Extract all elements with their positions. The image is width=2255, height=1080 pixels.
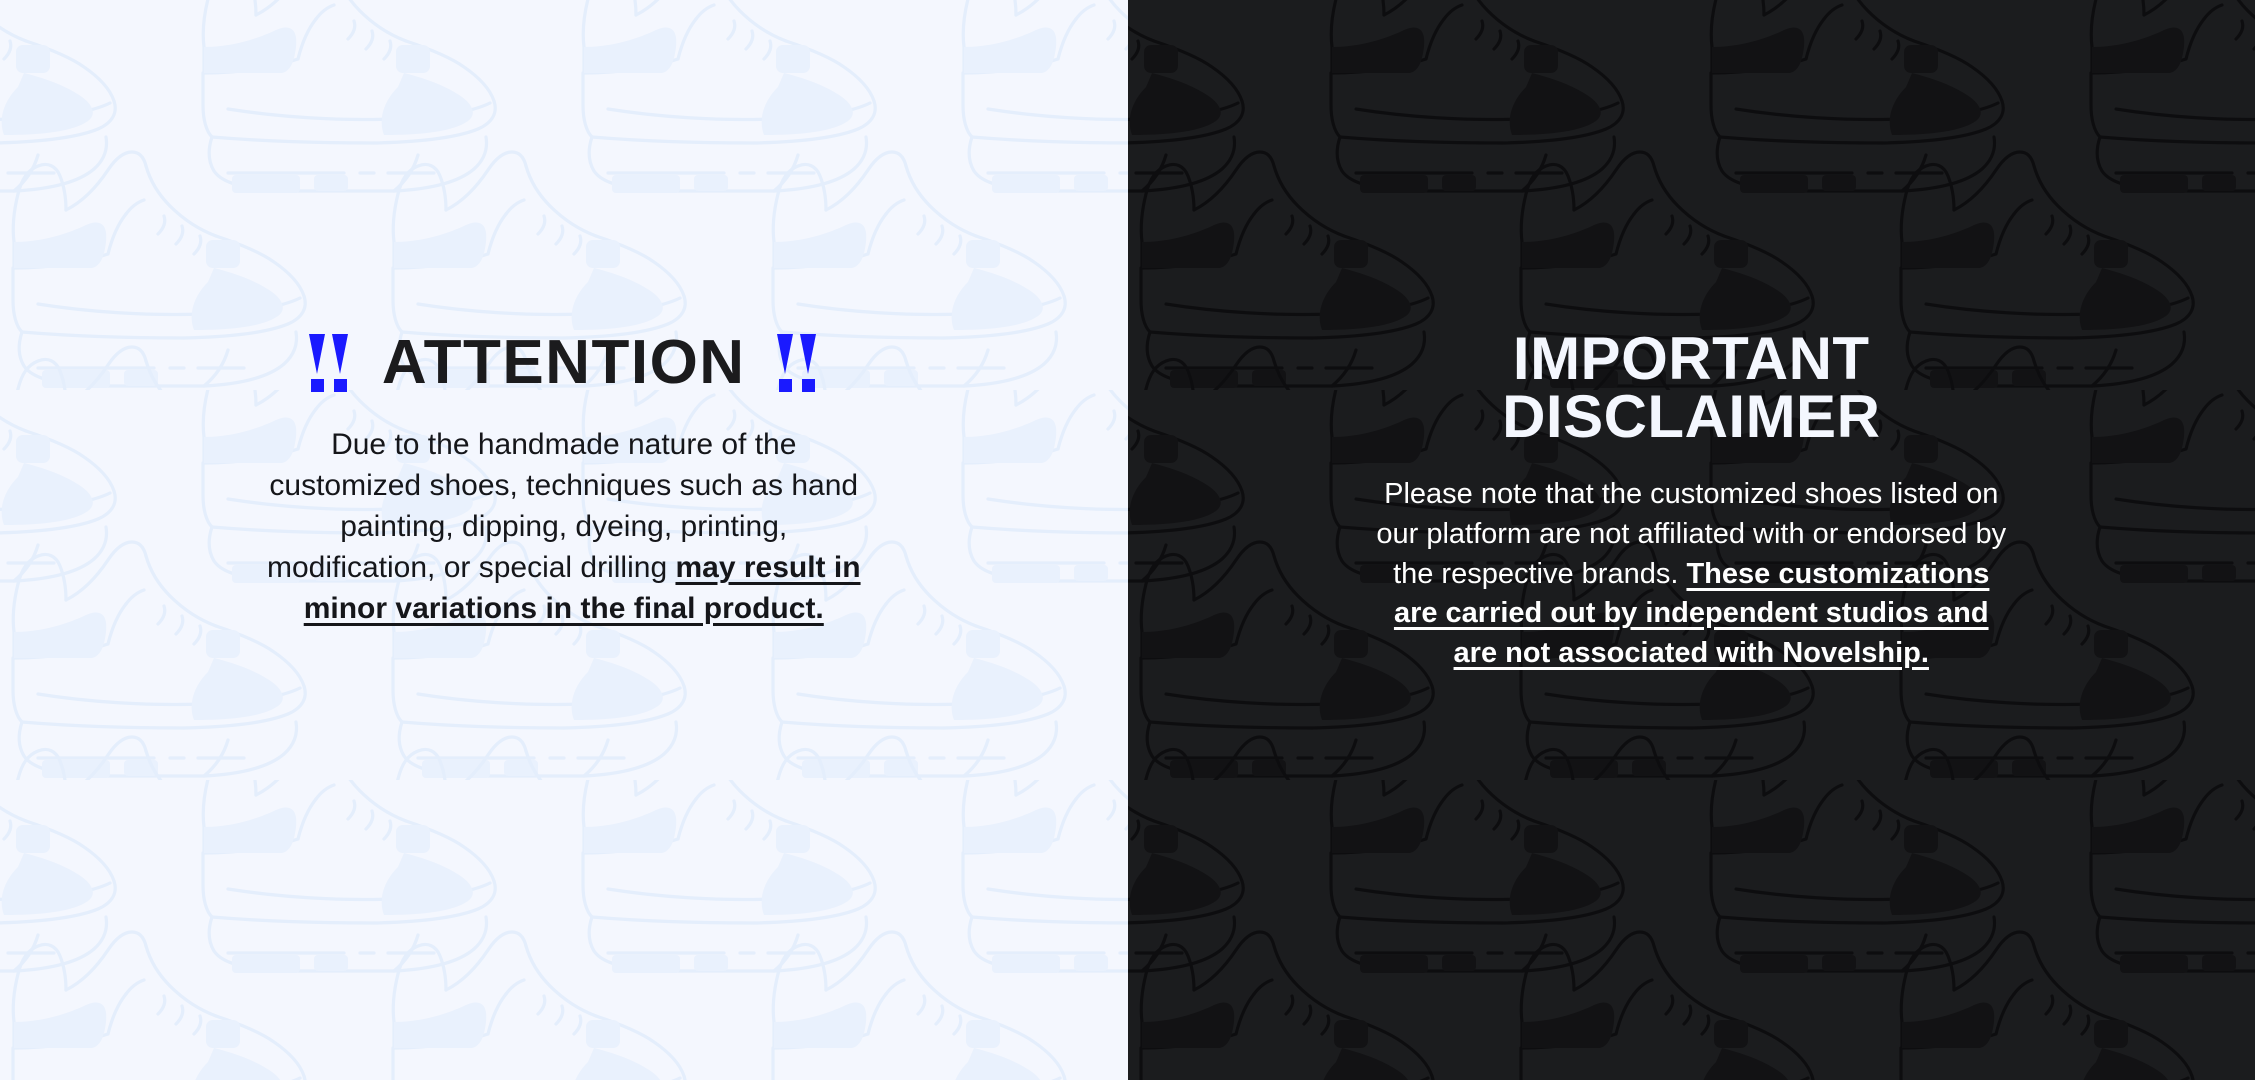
double-exclamation-icon [776,334,820,392]
double-exclamation-icon [308,334,352,392]
page-title: ATTENTION [382,332,746,394]
disclaimer-title: IMPORTANT DISCLAIMER [1381,330,2001,445]
disclaimer-panel: IMPORTANT DISCLAIMER Please note that th… [1128,0,2255,1080]
attention-panel: ATTENTION Due to the handmade nature of … [0,0,1128,1080]
attention-heading-row: ATTENTION [0,332,1128,394]
disclaimer-title-line1: IMPORTANT [1381,330,2001,388]
disclaimer-title-line2: DISCLAIMER [1381,388,2001,446]
disclaimer-body: Please note that the customized shoes li… [1371,475,2011,674]
disclaimer-banner: ATTENTION Due to the handmade nature of … [0,0,2255,1080]
attention-body: Due to the handmade nature of the custom… [264,424,864,629]
